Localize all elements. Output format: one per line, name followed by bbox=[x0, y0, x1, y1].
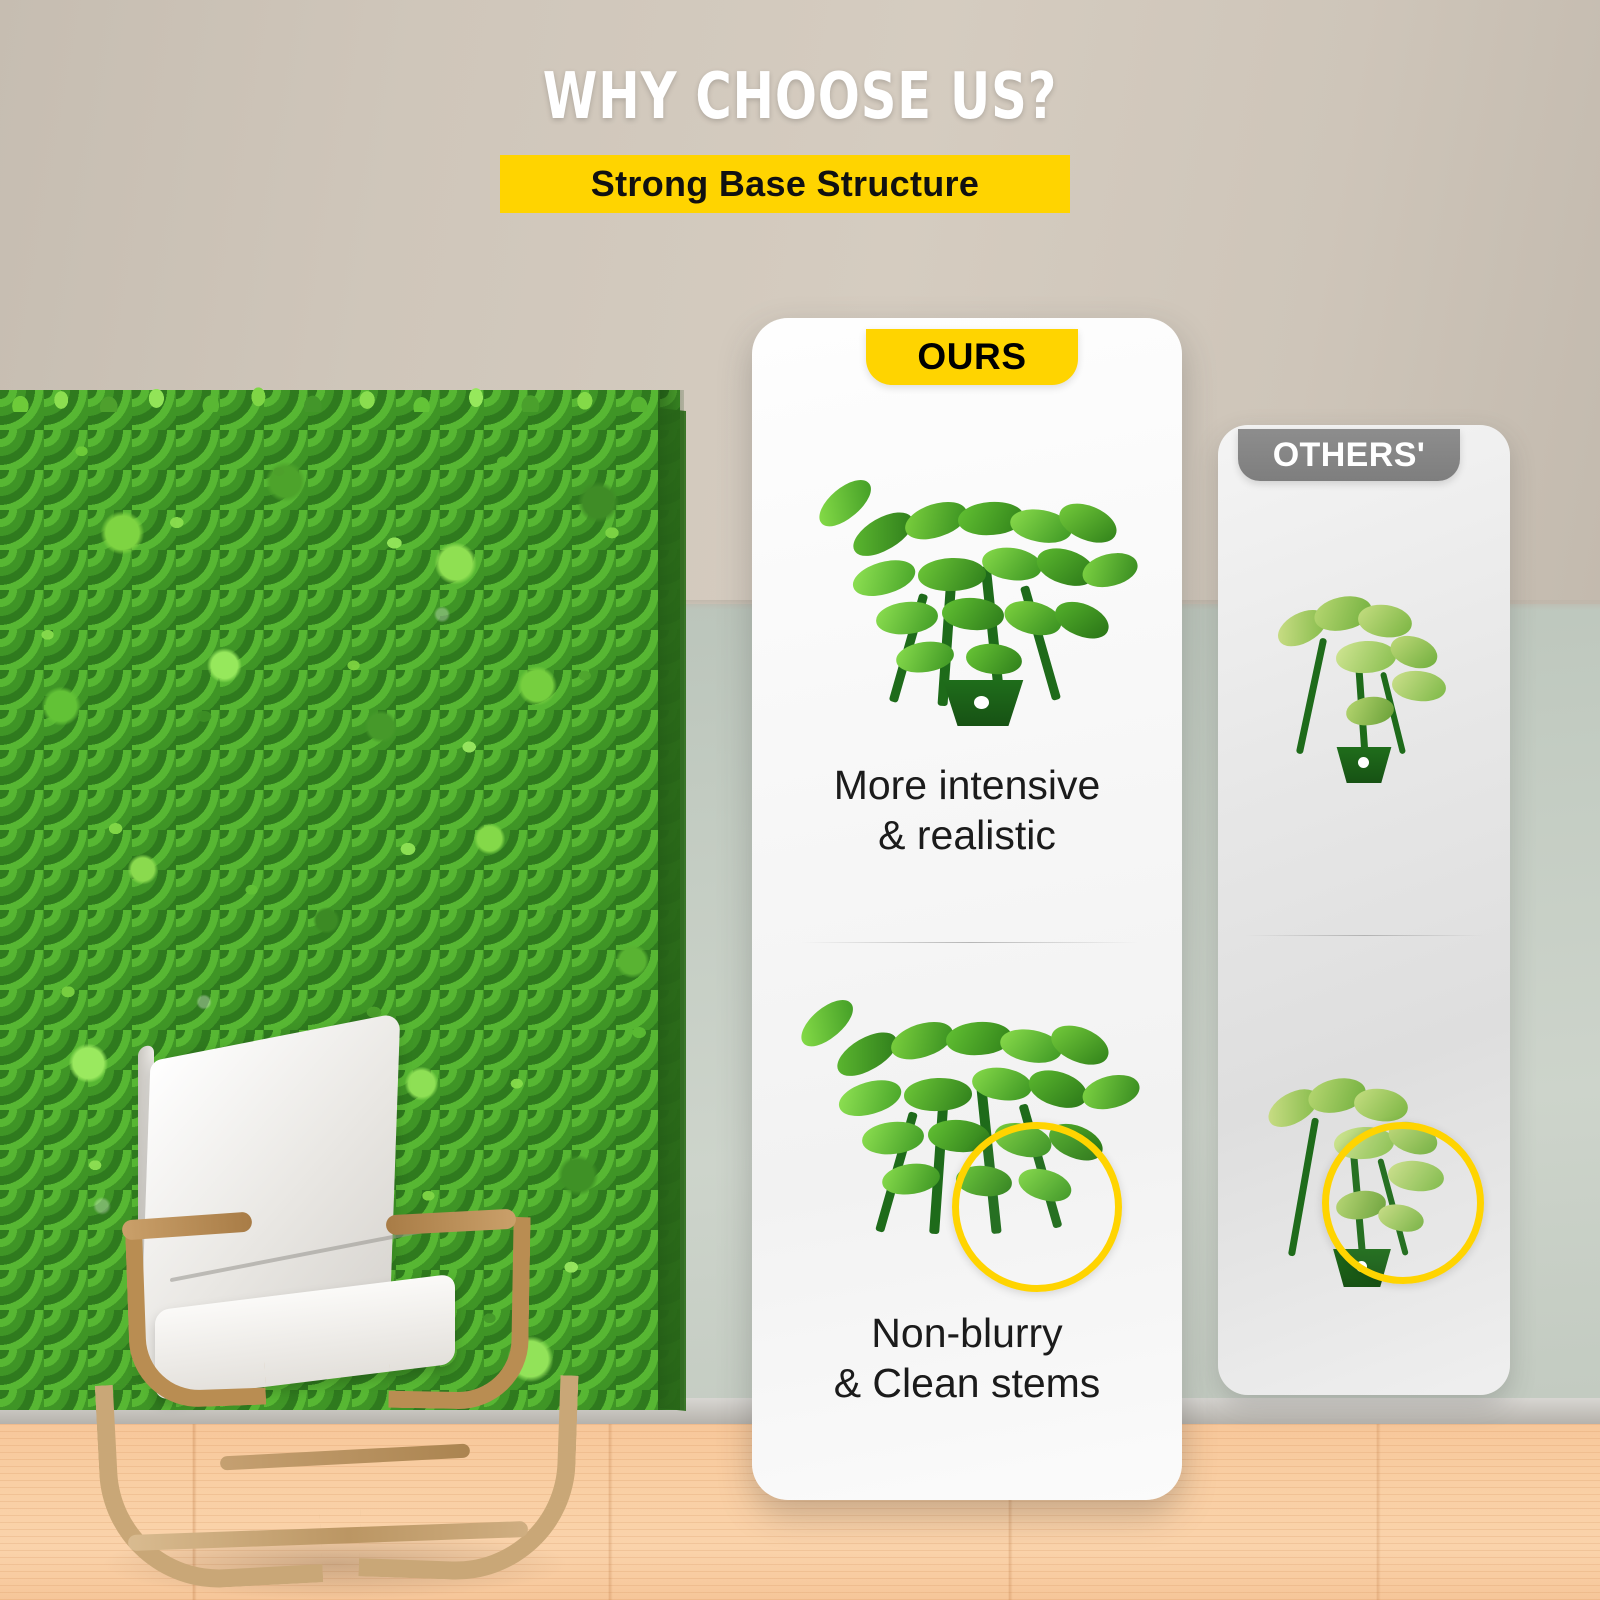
others-plant-sprig-top bbox=[1240, 575, 1490, 785]
leaf bbox=[1024, 1064, 1092, 1115]
page-headline: WHY CHOOSE US? bbox=[112, 60, 1488, 134]
stem bbox=[1288, 1117, 1319, 1256]
leaf bbox=[1046, 1018, 1114, 1072]
hedge-right-edge bbox=[658, 390, 684, 1410]
ours-zoom-highlight-ring bbox=[952, 1122, 1122, 1292]
leaf bbox=[965, 641, 1024, 677]
leaf bbox=[1079, 548, 1141, 593]
badge-ours-label: OURS bbox=[917, 336, 1026, 378]
ours-card-divider bbox=[800, 942, 1140, 943]
ours-caption-top: More intensive & realistic bbox=[760, 760, 1174, 860]
chair-armrest-right bbox=[388, 1215, 530, 1410]
base-clip-hole bbox=[1358, 757, 1369, 768]
leaf bbox=[1079, 1069, 1143, 1114]
leaf bbox=[860, 1119, 925, 1157]
ours-caption-top-line2: & realistic bbox=[760, 810, 1174, 860]
stem bbox=[929, 1094, 949, 1234]
leaf bbox=[917, 557, 986, 592]
others-zoom-highlight-ring bbox=[1322, 1122, 1484, 1284]
subtitle-text: Strong Base Structure bbox=[591, 163, 979, 205]
chair-armrest-left bbox=[125, 1218, 266, 1410]
leaf bbox=[903, 1077, 972, 1112]
rocking-chair bbox=[100, 1020, 580, 1600]
leaf bbox=[849, 554, 919, 602]
ours-caption-bottom-line2: & Clean stems bbox=[760, 1358, 1174, 1408]
ours-caption-bottom-line1: Non-blurry bbox=[760, 1308, 1174, 1358]
others-card-divider bbox=[1245, 935, 1485, 936]
scene-stage: WHY CHOOSE US? Strong Base Structure bbox=[0, 0, 1600, 1600]
leaf bbox=[874, 599, 939, 637]
leaf bbox=[1352, 1085, 1410, 1124]
base-clip-hole bbox=[974, 696, 989, 709]
badge-others[interactable]: OTHERS' bbox=[1238, 429, 1460, 481]
leaf bbox=[1391, 668, 1448, 703]
leaf bbox=[1050, 595, 1114, 646]
leaf bbox=[1335, 639, 1397, 674]
subtitle-banner: Strong Base Structure bbox=[500, 155, 1070, 213]
leaf bbox=[1054, 496, 1122, 550]
ours-caption-bottom: Non-blurry & Clean stems bbox=[760, 1308, 1174, 1408]
ours-caption-top-line1: More intensive bbox=[760, 760, 1174, 810]
ours-plant-sprig-top bbox=[792, 466, 1152, 726]
leaf bbox=[835, 1074, 905, 1122]
badge-others-label: OTHERS' bbox=[1273, 436, 1426, 475]
badge-ours[interactable]: OURS bbox=[866, 329, 1078, 385]
hedge-top-fringe bbox=[0, 372, 680, 412]
stem bbox=[1296, 638, 1327, 755]
